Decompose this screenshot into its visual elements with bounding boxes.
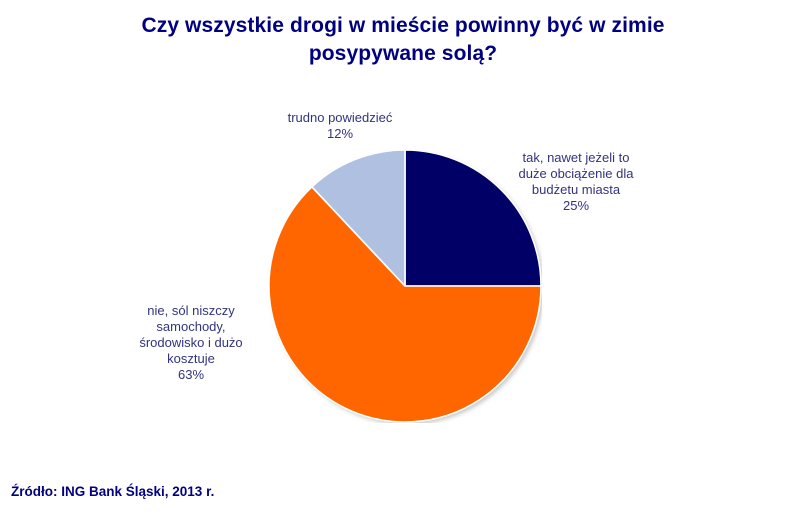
pie-label-trudno-powiedziec: trudno powiedzieć 12% bbox=[233, 110, 447, 142]
pie-chart-figure: Czy wszystkie drogi w mieście powinny by… bbox=[0, 0, 806, 514]
source-note: Źródło: ING Bank Śląski, 2013 r. bbox=[11, 483, 214, 501]
pie-label-tak: tak, nawet jeżeli to duże obciążenie dla… bbox=[487, 150, 665, 214]
pie-label-nie: nie, sól niszczy samochody, środowisko i… bbox=[96, 303, 286, 383]
chart-title-line-2: posypywane solą? bbox=[309, 42, 497, 65]
chart-title-line-1: Czy wszystkie drogi w mieście powinny by… bbox=[141, 14, 664, 37]
chart-title: Czy wszystkie drogi w mieście powinny by… bbox=[60, 12, 746, 68]
